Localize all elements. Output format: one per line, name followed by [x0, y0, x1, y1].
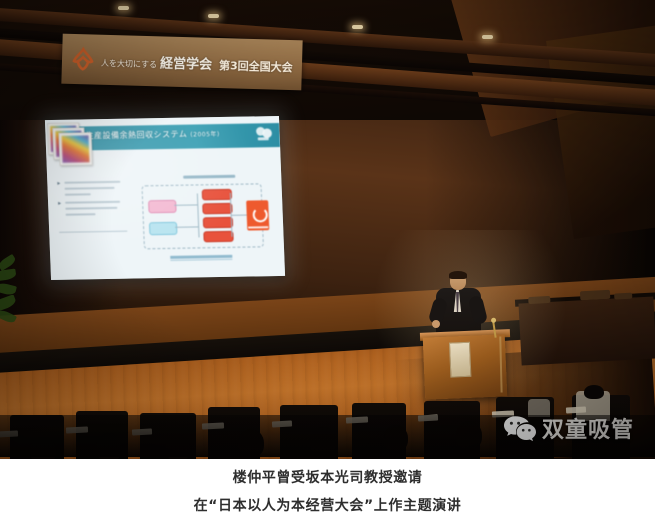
caption-line-1: 楼仲平曾受坂本光司教授邀请 — [233, 467, 423, 487]
wechat-logo-icon — [503, 415, 537, 442]
wechat-watermark: 双童吸管 — [503, 412, 634, 444]
caption-line-2: 在“日本以人为本经营大会”上作主题演讲 — [194, 495, 462, 515]
plant-leaf — [0, 269, 17, 282]
ceiling-light — [208, 14, 219, 18]
banner-text: 人を大切にする 経営学会 第3回全国大会 — [101, 50, 293, 74]
banner-text-large: 経営学会 — [160, 52, 213, 72]
stage-plant — [0, 258, 36, 338]
speaker-hand — [432, 320, 440, 328]
audience-head — [584, 385, 604, 399]
table-object — [528, 296, 550, 304]
ceiling-light — [352, 25, 363, 29]
ceiling-light — [482, 35, 493, 39]
slide-surface: 生産設備余熱回収システム(2005年) ▸ — [45, 116, 285, 280]
speaker-hair — [449, 271, 467, 279]
banner-text-small: 人を大切にする — [101, 57, 157, 70]
screen-glare — [45, 116, 285, 280]
ceiling-light — [118, 6, 129, 10]
projection-screen: 生産設備余熱回収システム(2005年) ▸ — [45, 116, 285, 280]
photo-caption: 楼仲平曾受坂本光司教授邀请 在“日本以人为本经营大会”上作主题演讲 — [0, 459, 655, 523]
photo-with-caption-page: 人を大切にする 経営学会 第3回全国大会 生産設備余熱回収システム(2005年) — [0, 0, 655, 523]
watermark-text: 双童吸管 — [542, 412, 634, 444]
banner-text-edition: 第3回全国大会 — [219, 57, 293, 75]
plant-leaf — [0, 282, 17, 297]
conference-photo: 人を大切にする 経営学会 第3回全国大会 生産設備余熱回収システム(2005年) — [0, 0, 655, 459]
table-object — [614, 293, 632, 300]
plant-leaf — [0, 308, 17, 324]
side-table — [518, 297, 655, 366]
podium-name-placard-icon — [449, 342, 471, 378]
banner-logo-icon — [70, 46, 97, 73]
table-object — [580, 290, 610, 301]
stage-banner: 人を大切にする 経営学会 第3回全国大会 — [61, 34, 302, 91]
